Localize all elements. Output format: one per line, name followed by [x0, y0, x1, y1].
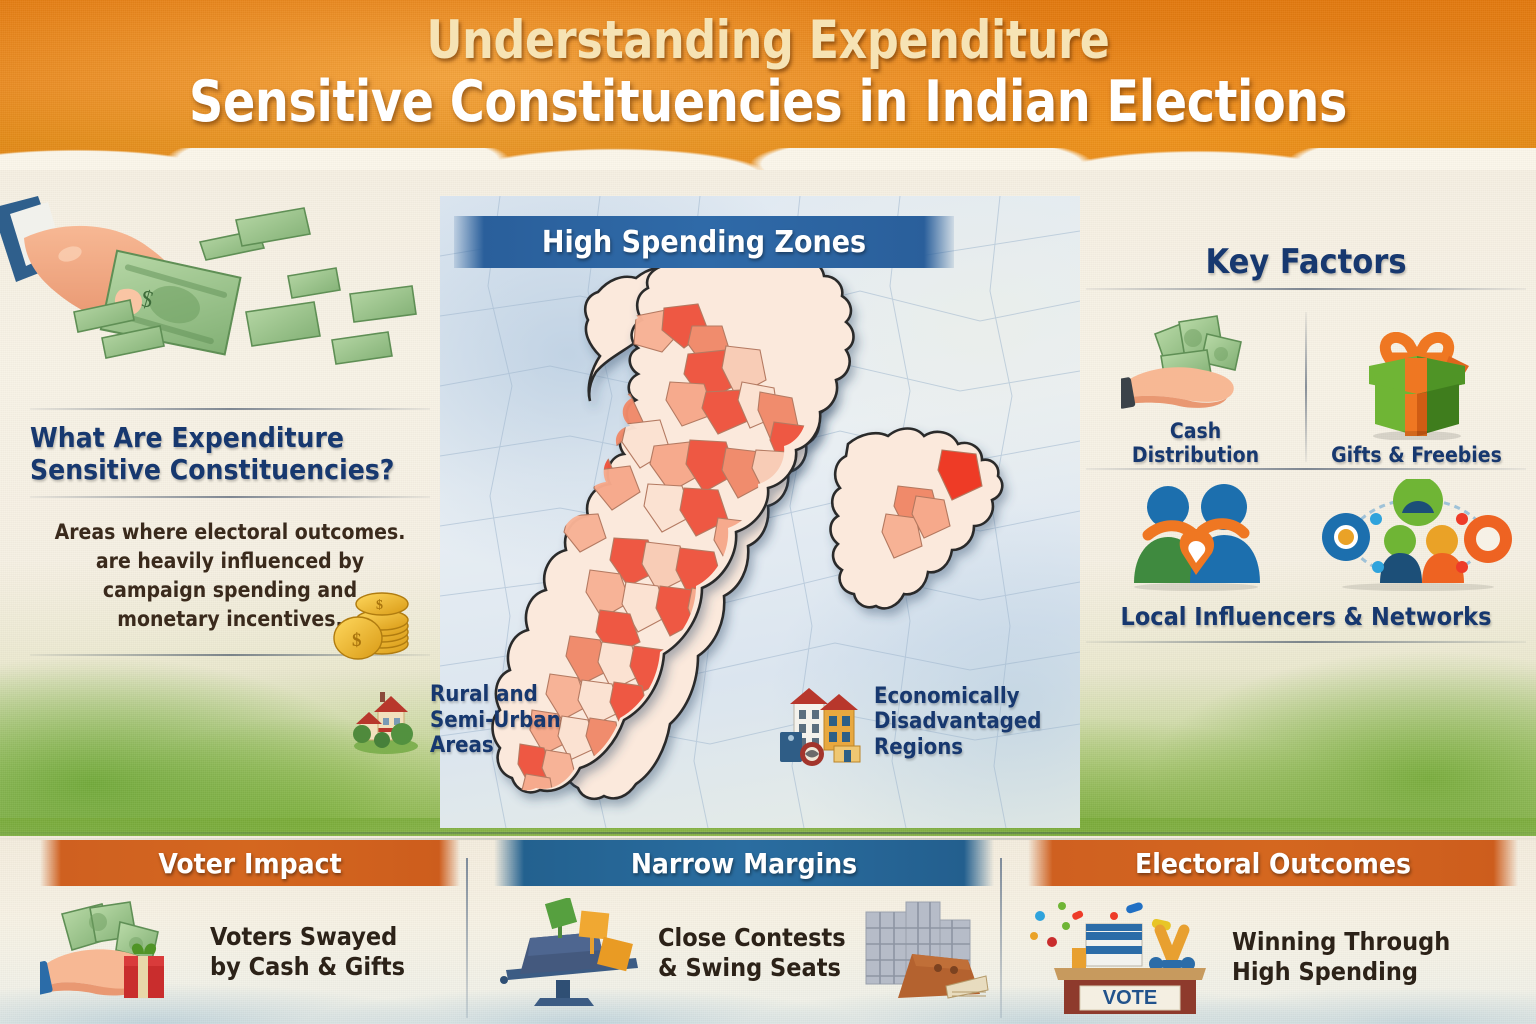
narrow-margins-line-1: Close Contests — [658, 923, 846, 953]
section-narrow-margins: Narrow Margins Close Contests & Swing Se… — [494, 840, 994, 1008]
voter-impact-strip: Voter Impact — [40, 840, 460, 886]
key-factors-row-2 — [1086, 470, 1526, 600]
hand-cash-gift-icon — [40, 898, 200, 1006]
village-house-icon — [350, 684, 422, 756]
high-spending-zones-banner: High Spending Zones — [454, 216, 954, 268]
left-body-line-2: are heavily influenced by — [48, 547, 412, 576]
factor-networks[interactable] — [1307, 479, 1526, 591]
left-heading-line-1: What Are Expenditure — [30, 422, 430, 454]
left-panel-rule-top — [30, 408, 430, 410]
key-factors-rule-top — [1086, 288, 1526, 290]
section-electoral-outcomes: Electoral Outcomes — [1028, 840, 1518, 1016]
section-voter-impact: Voter Impact Voters Swayed by Cash & Gif — [40, 840, 460, 1006]
map-label-rural: Rural and Semi-Urban Areas — [350, 682, 561, 759]
narrow-margins-line-2: & Swing Seats — [658, 953, 846, 983]
economic-line-1: Economically — [874, 684, 1041, 710]
voter-impact-label: Voter Impact — [158, 847, 341, 880]
left-panel-heading: What Are Expenditure Sensitive Constitue… — [30, 422, 430, 486]
key-factors-heading: Key Factors — [1086, 242, 1526, 282]
economic-line-2: Disadvantaged — [874, 709, 1041, 735]
voter-impact-caption: Voters Swayed by Cash & Gifts — [210, 922, 405, 982]
section-divider-2 — [1000, 858, 1002, 1018]
page-title: Understanding Expenditure Sensitive Cons… — [0, 10, 1536, 135]
cash-caption-line-1: Cash — [1132, 420, 1259, 444]
factor-gifts-freebies[interactable]: Gifts & Freebies — [1307, 300, 1526, 468]
voter-impact-line-2: by Cash & Gifts — [210, 952, 405, 982]
electoral-outcomes-body: VOTE Winning Through High Spending — [1028, 898, 1518, 1016]
gifts-caption-line-1: Gifts & Freebies — [1331, 444, 1502, 468]
divider-horizontal-upper — [0, 832, 1536, 834]
narrow-margins-body: Close Contests & Swing Seats — [494, 898, 994, 1008]
key-factors-panel: Key Factors — [1086, 242, 1526, 684]
factor-gifts-caption: Gifts & Freebies — [1331, 444, 1502, 468]
hand-with-banknotes-icon — [1121, 312, 1271, 416]
gift-box-icon — [1353, 332, 1481, 440]
map-label-rural-text: Rural and Semi-Urban Areas — [430, 682, 561, 759]
title-line-2: Sensitive Constituencies in Indian Elect… — [54, 69, 1482, 135]
balance-scale-icon — [494, 898, 644, 1008]
rural-line-3: Areas — [430, 733, 561, 759]
hand-holding-cash-icon: $ — [0, 186, 422, 416]
vote-booth-icon: VOTE — [1028, 898, 1218, 1016]
electoral-outcomes-line-1: Winning Through — [1232, 927, 1450, 957]
banner-label: High Spending Zones — [542, 225, 866, 260]
key-factors-row-1: Cash Distribution — [1086, 300, 1526, 468]
cash-caption-line-2: Distribution — [1132, 444, 1259, 468]
people-network-icon — [1322, 479, 1512, 591]
electoral-outcomes-caption: Winning Through High Spending — [1232, 927, 1450, 987]
left-body-line-1: Areas where electoral outcomes. — [48, 518, 412, 547]
electoral-outcomes-line-2: High Spending — [1232, 957, 1450, 987]
factor-cash-caption: Cash Distribution — [1132, 420, 1259, 468]
town-buildings-icon — [778, 676, 866, 768]
two-people-heart-icon — [1122, 479, 1270, 591]
svg-text:$: $ — [352, 630, 362, 651]
economic-line-3: Regions — [874, 735, 1041, 761]
electoral-outcomes-label: Electoral Outcomes — [1135, 847, 1411, 880]
key-factors-grid: Cash Distribution — [1086, 300, 1526, 600]
key-factors-rule-bottom — [1086, 641, 1526, 643]
rural-line-1: Rural and — [430, 682, 561, 708]
left-heading-line-2: Sensitive Constituencies? — [30, 454, 430, 486]
vote-label: VOTE — [1103, 987, 1157, 1009]
narrow-margins-caption: Close Contests & Swing Seats — [658, 923, 846, 983]
electoral-outcomes-strip: Electoral Outcomes — [1028, 840, 1518, 886]
factor-influencers[interactable] — [1086, 479, 1305, 591]
gold-coins-stack-icon: $ $ — [332, 582, 422, 664]
local-influencers-caption: Local Influencers & Networks — [1086, 602, 1526, 631]
left-panel-rule-mid — [30, 496, 430, 498]
voter-impact-body: Voters Swayed by Cash & Gifts — [40, 898, 460, 1006]
title-line-1: Understanding Expenditure — [54, 10, 1482, 71]
svg-text:$: $ — [376, 598, 383, 613]
rural-line-2: Semi-Urban — [430, 708, 561, 734]
map-label-economic: Economically Disadvantaged Regions — [778, 676, 1041, 768]
section-divider-1 — [466, 858, 468, 1018]
voter-impact-line-1: Voters Swayed — [210, 922, 405, 952]
narrow-margins-strip: Narrow Margins — [494, 840, 994, 886]
buildings-ramp-icon — [860, 898, 990, 1008]
factor-cash-distribution[interactable]: Cash Distribution — [1086, 300, 1305, 468]
narrow-margins-label: Narrow Margins — [631, 847, 857, 880]
map-label-economic-text: Economically Disadvantaged Regions — [874, 684, 1041, 761]
